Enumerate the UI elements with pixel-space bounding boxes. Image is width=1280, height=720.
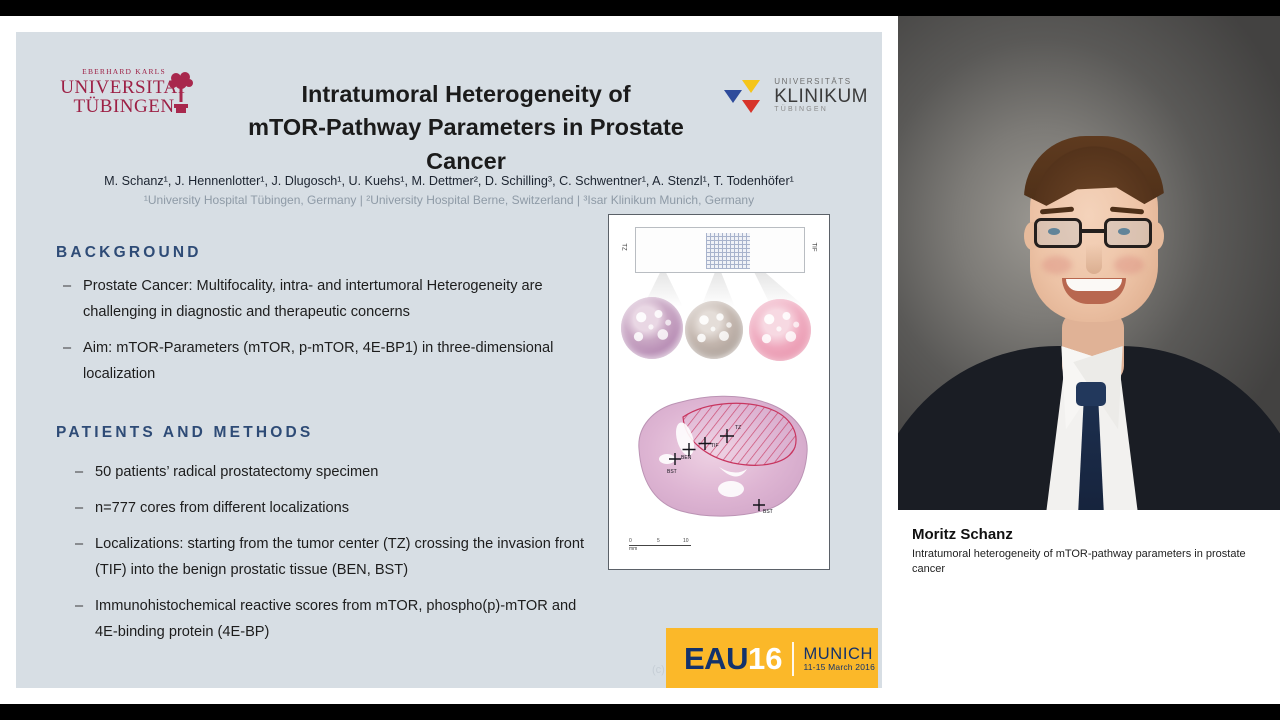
background-bullet-1: Prostate Cancer: Multifocality, intra- a… [62,274,582,326]
scale-unit: mm [629,546,691,552]
eau-year: 16 [748,641,782,677]
svg-text:BST: BST [763,509,773,515]
figure-strip-label-right: TIF [811,243,817,252]
slide-watermark: (c) [652,664,665,676]
svg-text:BST: BST [667,469,677,475]
methods-bullet-1: 50 patients’ radical prostatectomy speci… [74,460,594,486]
figure-slide-strip: TZ TIF [635,227,805,273]
screen: EBERHARD KARLS UNIVERSITAT TÜBINGEN [0,0,1280,720]
portrait-cheek-right [1114,256,1144,274]
tuebingen-tree-icon [168,70,194,116]
letterbox-top [0,0,1280,16]
eau-dates: 11-15 March 2016 [803,663,875,672]
svg-text:TIF: TIF [711,443,719,449]
figure-scale-bar: 0 5 10 mm [629,539,691,552]
presentation-slide: EBERHARD KARLS UNIVERSITAT TÜBINGEN [16,32,882,688]
portrait-cheek-left [1042,256,1072,274]
eyeglass-lens-right [1104,218,1152,248]
histology-figure: TZ TIF [608,214,830,570]
background-bullets: Prostate Cancer: Multifocality, intra- a… [62,274,582,398]
portrait-nose [1086,244,1102,274]
methods-bullet-2: n=777 cores from different localizations [74,496,594,522]
affiliation-list: ¹University Hospital Tübingen, Germany |… [56,192,842,209]
universitaetsklinikum-logo: UNIVERSITÄTS KLINIKUM TÜBINGEN [722,76,868,116]
speaker-name: Moritz Schanz [912,526,1266,543]
histology-core-invasion-front [685,301,743,359]
scale-label-0: 0 [629,538,632,544]
section-heading-background: BACKGROUND [56,244,202,262]
klinikum-wordmark: UNIVERSITÄTS KLINIKUM TÜBINGEN [774,78,868,114]
speaker-portrait-photo [898,16,1280,510]
eyeglass-lens-left [1034,218,1082,248]
histology-core-tumor [749,299,811,361]
eau-divider [792,642,794,676]
speaker-caption: Moritz Schanz Intratumoral heterogeneity… [898,510,1280,577]
slide-title-line-2: mTOR-Pathway Parameters in Prostate Canc… [206,111,726,178]
histology-core-benign [621,297,683,359]
portrait-teeth [1066,279,1122,291]
klinikum-line-klinikum: KLINIKUM [774,87,868,107]
slide-title-line-1: Intratumoral Heterogeneity of [206,78,726,111]
klinikum-line-tuebingen: TÜBINGEN [774,106,868,113]
figure-tma-grid [706,233,750,269]
scale-tick-labels: 0 5 10 [629,539,691,543]
author-list: M. Schanz¹, J. Hennenlotter¹, J. Dlugosc… [56,172,842,190]
scale-label-5: 5 [657,538,660,544]
svg-text:BEN: BEN [681,455,692,461]
methods-bullet-3: Localizations: starting from the tumor c… [74,532,594,584]
klinikum-mark-icon [722,76,766,116]
slide-title: Intratumoral Heterogeneity of mTOR-Pathw… [206,78,726,178]
prostate-section-image: TZTIF BENBSTBST [623,383,819,533]
speaker-talk-title: Intratumoral heterogeneity of mTOR-pathw… [912,547,1266,577]
methods-bullet-4: Immunohistochemical reactive scores from… [74,594,594,646]
letterbox-bottom [0,704,1280,720]
eau16-congress-logo: EAU 16 MUNICH 11-15 March 2016 [666,628,878,688]
slide-viewer[interactable]: EBERHARD KARLS UNIVERSITAT TÜBINGEN [0,16,898,704]
portrait-tie-knot [1076,382,1106,406]
eau-text: EAU [684,641,748,677]
figure-strip-label-left: TZ [621,243,627,250]
svg-text:TZ: TZ [735,425,741,431]
section-heading-patients-and-methods: PATIENTS AND METHODS [56,424,313,442]
eyeglass-bridge [1082,229,1104,233]
background-bullet-2: Aim: mTOR-Parameters (mTOR, p-mTOR, 4E-B… [62,336,582,388]
scale-label-10: 10 [683,538,689,544]
eau-city: MUNICH [803,646,875,664]
speaker-panel: Moritz Schanz Intratumoral heterogeneity… [898,16,1280,704]
methods-bullets: 50 patients’ radical prostatectomy speci… [74,460,594,656]
eau-city-block: MUNICH 11-15 March 2016 [803,646,875,673]
